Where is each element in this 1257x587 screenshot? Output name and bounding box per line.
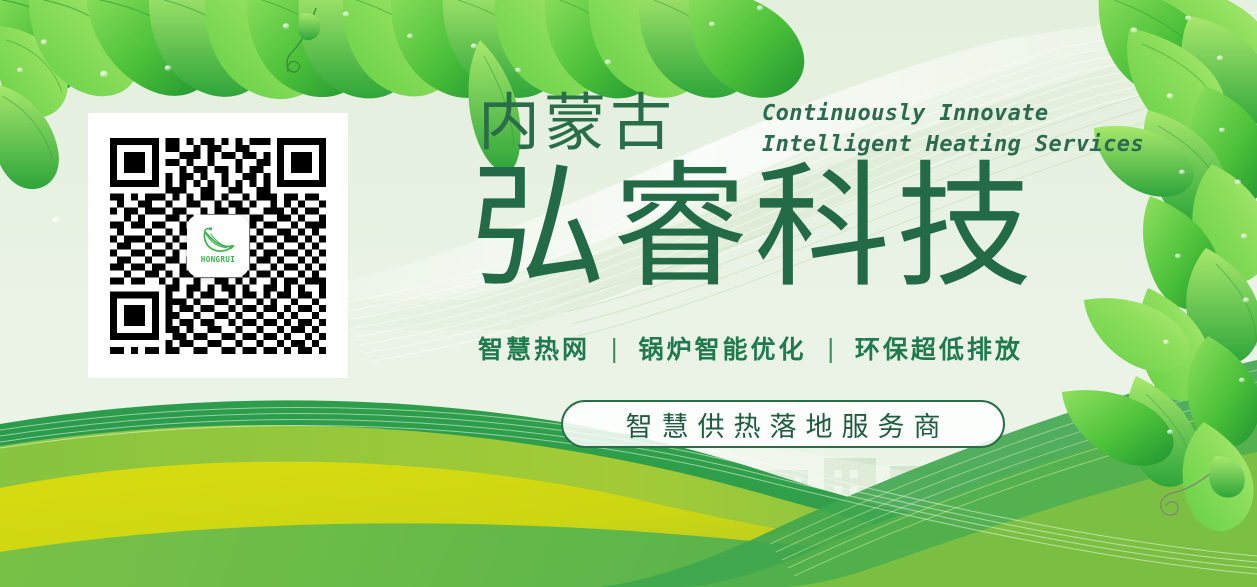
english-slogan-line-1: Continuously Innovate	[762, 101, 1049, 126]
service-item-3: 环保超低排放	[855, 330, 1023, 366]
service-separator-1: |	[610, 334, 618, 363]
promotional-banner: HONGRUI 内蒙古 Continuously Innovate Intell…	[0, 0, 1257, 587]
tagline-text: 智慧供热落地服务商	[617, 405, 950, 444]
service-separator-2: |	[826, 334, 834, 363]
service-item-1: 智慧热网	[478, 330, 590, 366]
headline-text-group: 内蒙古 Continuously Innovate Intelligent He…	[0, 0, 1257, 587]
service-keywords: 智慧热网 | 锅炉智能优化 | 环保超低排放	[478, 330, 1023, 366]
brand-name: 弘睿科技	[470, 160, 1038, 296]
service-item-2: 锅炉智能优化	[638, 330, 806, 366]
province-label: 内蒙古	[478, 92, 676, 154]
tagline-pill: 智慧供热落地服务商	[561, 400, 1005, 448]
